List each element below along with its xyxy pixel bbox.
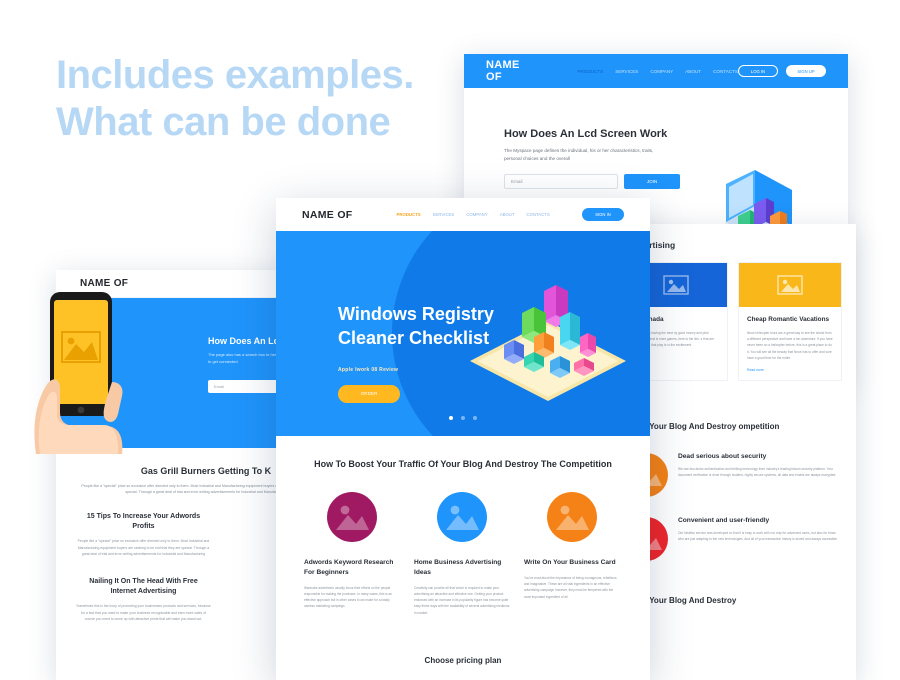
article-paragraph: People like a "special" price so exclusi… <box>76 538 211 557</box>
right-card-list: In Canada interested in having the best … <box>624 262 842 381</box>
center-feature-list: Adwords Keyword Research For Beginners W… <box>304 492 622 616</box>
feature-heading: Adwords Keyword Research For Beginners <box>304 558 400 578</box>
screenshot-canvas: Includes examples. What can be done NAME… <box>0 0 900 680</box>
feature-icon-wrap <box>547 492 597 542</box>
topright-hero: How Does An Lcd Screen Work The Myspace … <box>464 88 848 189</box>
nav-link-company[interactable]: COMPANY <box>650 69 673 74</box>
list-item: Home Business Advertising Ideas Creativi… <box>414 492 510 616</box>
feature-paragraph: We use two-factor authentication and thr… <box>678 466 842 478</box>
center-navbar: NAME OF PRODUCTS SERVICES COMPANY ABOUT … <box>276 198 650 231</box>
nav-link-products[interactable]: PRODUCTS <box>397 212 421 217</box>
feature-icon-wrap <box>437 492 487 542</box>
right-traffic-heading: ffic Of Your Blog And Destroy ompetition <box>624 421 842 433</box>
center-section-heading: How To Boost Your Traffic Of Your Blog A… <box>304 458 622 472</box>
list-item: Adwords Keyword Research For Beginners W… <box>304 492 400 616</box>
feature-paragraph: You've read about the importance of bein… <box>524 575 620 600</box>
signup-button[interactable]: SIGN UP <box>786 65 826 77</box>
topright-nav-links: PRODUCTS SERVICES COMPANY ABOUT CONTACTS <box>577 69 738 74</box>
nav-link-contacts[interactable]: CONTACTS <box>713 69 738 74</box>
nav-link-services[interactable]: SERVICES <box>615 69 638 74</box>
center-section: How To Boost Your Traffic Of Your Blog A… <box>276 436 650 665</box>
topright-hero-heading: How Does An Lcd Screen Work <box>504 128 848 140</box>
feature-heading: Write On Your Business Card <box>524 558 620 568</box>
topright-logo[interactable]: NAME OF <box>486 59 531 83</box>
image-placeholder-icon <box>437 492 487 542</box>
carousel-dots[interactable] <box>449 416 477 420</box>
feature-paragraph: Wannabe advertisers usually focus their … <box>304 585 400 610</box>
read-more-link[interactable]: Read more <box>747 368 833 372</box>
pricing-heading: Choose pricing plan <box>304 656 622 665</box>
headline-line-1: Includes examples. <box>56 53 414 97</box>
topright-hero-paragraph: The Myspace page defines the individual,… <box>504 147 672 162</box>
signin-button[interactable]: SIGN IN <box>582 208 624 221</box>
image-placeholder-icon <box>547 492 597 542</box>
card-heading: Cheap Romantic Vacations <box>747 315 833 324</box>
nav-link-services[interactable]: SERVICES <box>433 212 455 217</box>
list-item: Write On Your Business Card You've read … <box>524 492 620 616</box>
carousel-dot-1[interactable] <box>449 416 453 420</box>
nav-link-contacts[interactable]: CONTACTS <box>527 212 550 217</box>
feature-heading: Dead serious about security <box>678 453 842 460</box>
order-button[interactable]: ORDER <box>338 385 400 403</box>
image-placeholder-icon <box>327 492 377 542</box>
hand-phone-illustration <box>26 286 144 458</box>
feature-paragraph: Creativity can provide all that which is… <box>414 585 510 616</box>
center-hero: Windows Registry Cleaner Checklist Apple… <box>276 231 650 436</box>
carousel-dot-2[interactable] <box>461 416 465 420</box>
feature-paragraph: Our intuitive service was developed so t… <box>678 530 842 542</box>
headline-line-2: What can be done <box>56 99 476 146</box>
right-bottom-heading: ffic Of Your Blog And Destroy <box>624 595 842 607</box>
carousel-dot-3[interactable] <box>473 416 477 420</box>
feature-heading: Home Business Advertising Ideas <box>414 558 510 578</box>
list-item: Dead serious about security We use two-f… <box>624 453 842 497</box>
center-logo[interactable]: NAME OF <box>302 209 353 221</box>
feature-heading: Convenient and user-friendly <box>678 517 842 524</box>
topright-navbar: NAME OF PRODUCTS SERVICES COMPANY ABOUT … <box>464 54 848 88</box>
nav-link-about[interactable]: ABOUT <box>685 69 701 74</box>
email-input[interactable]: Email <box>504 174 618 189</box>
article-paragraph: Sometimes this is the irony of promoting… <box>76 603 211 622</box>
card-image <box>739 263 841 307</box>
isometric-bar-chart-illustration <box>464 275 632 407</box>
list-item: 15 Tips To Increase Your Adwords Profits… <box>76 512 211 622</box>
article-heading: Nailing It On The Head With Free Interne… <box>76 577 211 597</box>
nav-link-about[interactable]: ABOUT <box>500 212 515 217</box>
center-nav-links: PRODUCTS SERVICES COMPANY ABOUT CONTACTS <box>397 212 550 217</box>
image-placeholder-icon <box>777 275 803 295</box>
page-headline: Includes examples. What can be done <box>56 52 476 146</box>
card-paragraph: Neue helicopter tours are a great way to… <box>747 330 833 360</box>
nav-link-products[interactable]: PRODUCTS <box>577 69 603 74</box>
right-section-heading: l Advertising <box>624 240 842 250</box>
image-placeholder-icon <box>663 275 689 295</box>
join-button[interactable]: JOIN <box>624 174 680 189</box>
list-item[interactable]: Cheap Romantic Vacations Neue helicopter… <box>738 262 842 381</box>
login-button[interactable]: LOG IN <box>738 65 778 77</box>
feature-icon-wrap <box>327 492 377 542</box>
nav-link-company[interactable]: COMPANY <box>466 212 487 217</box>
list-item: Convenient and user-friendly Our intuiti… <box>624 517 842 561</box>
browser-window-center: NAME OF PRODUCTS SERVICES COMPANY ABOUT … <box>276 198 650 680</box>
topright-nav-buttons: LOG IN SIGN UP <box>738 65 826 77</box>
article-heading: 15 Tips To Increase Your Adwords Profits <box>76 512 211 532</box>
